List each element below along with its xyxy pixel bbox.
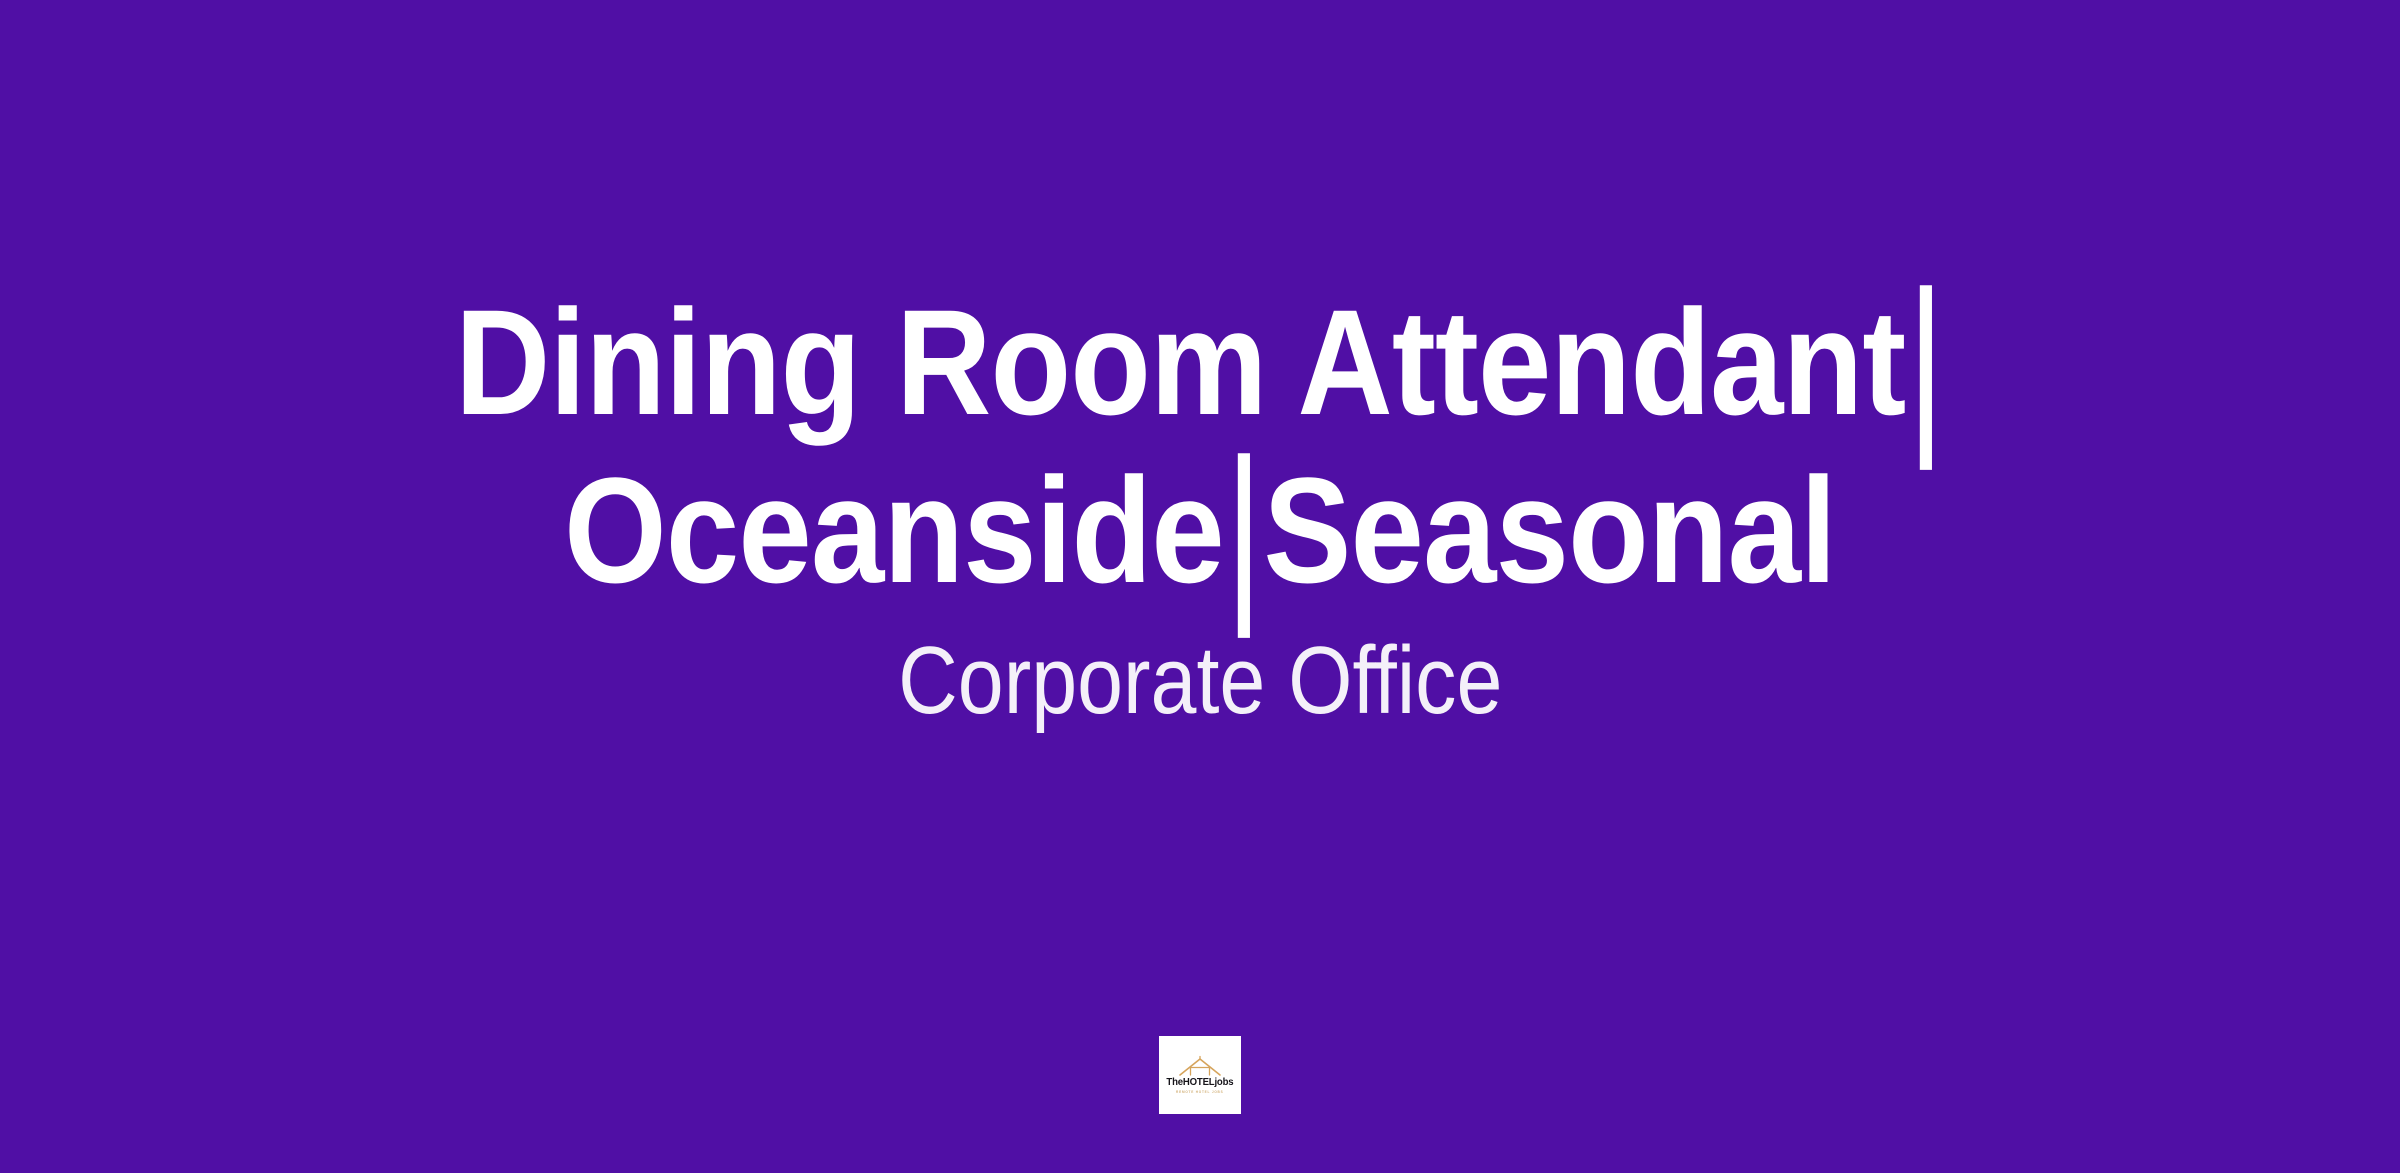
logo-wordmark: TheHOTELjobs (1166, 1078, 1233, 1088)
page-title: Dining Room Attendant|Oceanside|Seasonal (408, 278, 1992, 614)
headline-separator-1: | (1911, 250, 1939, 468)
headline-part-type: Seasonal (1263, 446, 1836, 614)
house-roof-icon (1177, 1055, 1223, 1077)
logo-tagline: REMOTE HOTEL JOBS (1176, 1091, 1223, 1094)
headline-separator-2: | (1229, 418, 1257, 636)
page-subtitle: Corporate Office (898, 628, 1502, 734)
headline-part-role: Dining Room Attendant (455, 278, 1905, 446)
brand-logo-badge: TheHOTELjobs REMOTE HOTEL JOBS (1159, 1036, 1241, 1114)
headline-part-location: Oceanside (564, 446, 1224, 614)
job-posting-poster: Dining Room Attendant|Oceanside|Seasonal… (0, 0, 2400, 1173)
headline-block: Dining Room Attendant|Oceanside|Seasonal… (0, 278, 2400, 734)
